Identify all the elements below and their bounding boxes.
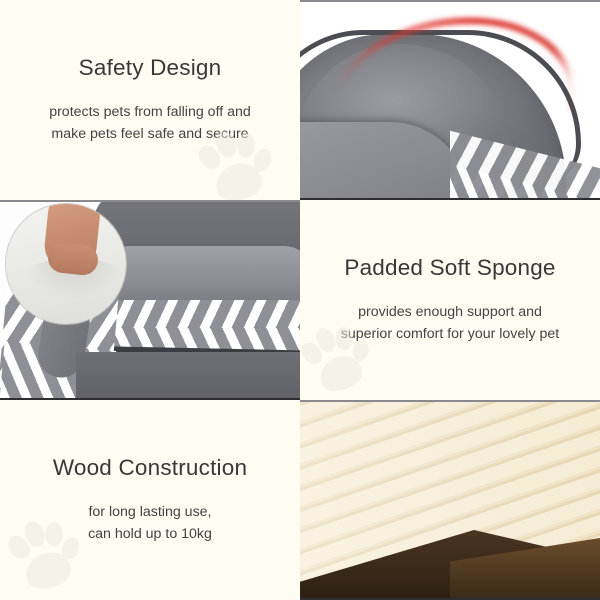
sofa-base	[76, 352, 300, 400]
feature-body-line-2: superior comfort for your lovely pet	[341, 323, 559, 345]
feature-text-padded-soft-sponge: Padded Soft Sponge provides enough suppo…	[300, 200, 600, 400]
sofa-seat-cushion	[104, 246, 300, 300]
paw-print-icon	[0, 507, 94, 600]
product-photo-pet-sofa-curved-back	[300, 0, 600, 200]
foam-press-inset	[6, 204, 126, 324]
feature-text-wood-construction: Wood Construction for long lasting use, …	[0, 400, 300, 600]
feature-body-line-2: make pets feel safe and secure	[49, 123, 251, 145]
feature-title-safety-design: Safety Design	[79, 55, 222, 81]
feature-text-safety-design: Safety Design protects pets from falling…	[0, 0, 300, 200]
feature-title-padded-soft-sponge: Padded Soft Sponge	[344, 255, 555, 281]
feature-body-line-1: provides enough support and	[341, 301, 559, 323]
product-photo-foam-press-test	[0, 200, 300, 400]
product-feature-infographic: Safety Design protects pets from falling…	[0, 0, 600, 600]
feature-body-line-1: for long lasting use,	[88, 501, 212, 523]
feature-body-wood-construction: for long lasting use, can hold up to 10k…	[88, 501, 212, 545]
feature-body-line-2: can hold up to 10kg	[88, 523, 212, 545]
red-arc-annotation	[300, 0, 600, 200]
feature-body-line-1: protects pets from falling off and	[49, 101, 251, 123]
feature-body-padded-soft-sponge: provides enough support and superior com…	[341, 301, 559, 345]
feature-title-wood-construction: Wood Construction	[53, 455, 247, 481]
feature-body-safety-design: protects pets from falling off and make …	[49, 101, 251, 145]
product-photo-wood-planks	[300, 400, 600, 600]
